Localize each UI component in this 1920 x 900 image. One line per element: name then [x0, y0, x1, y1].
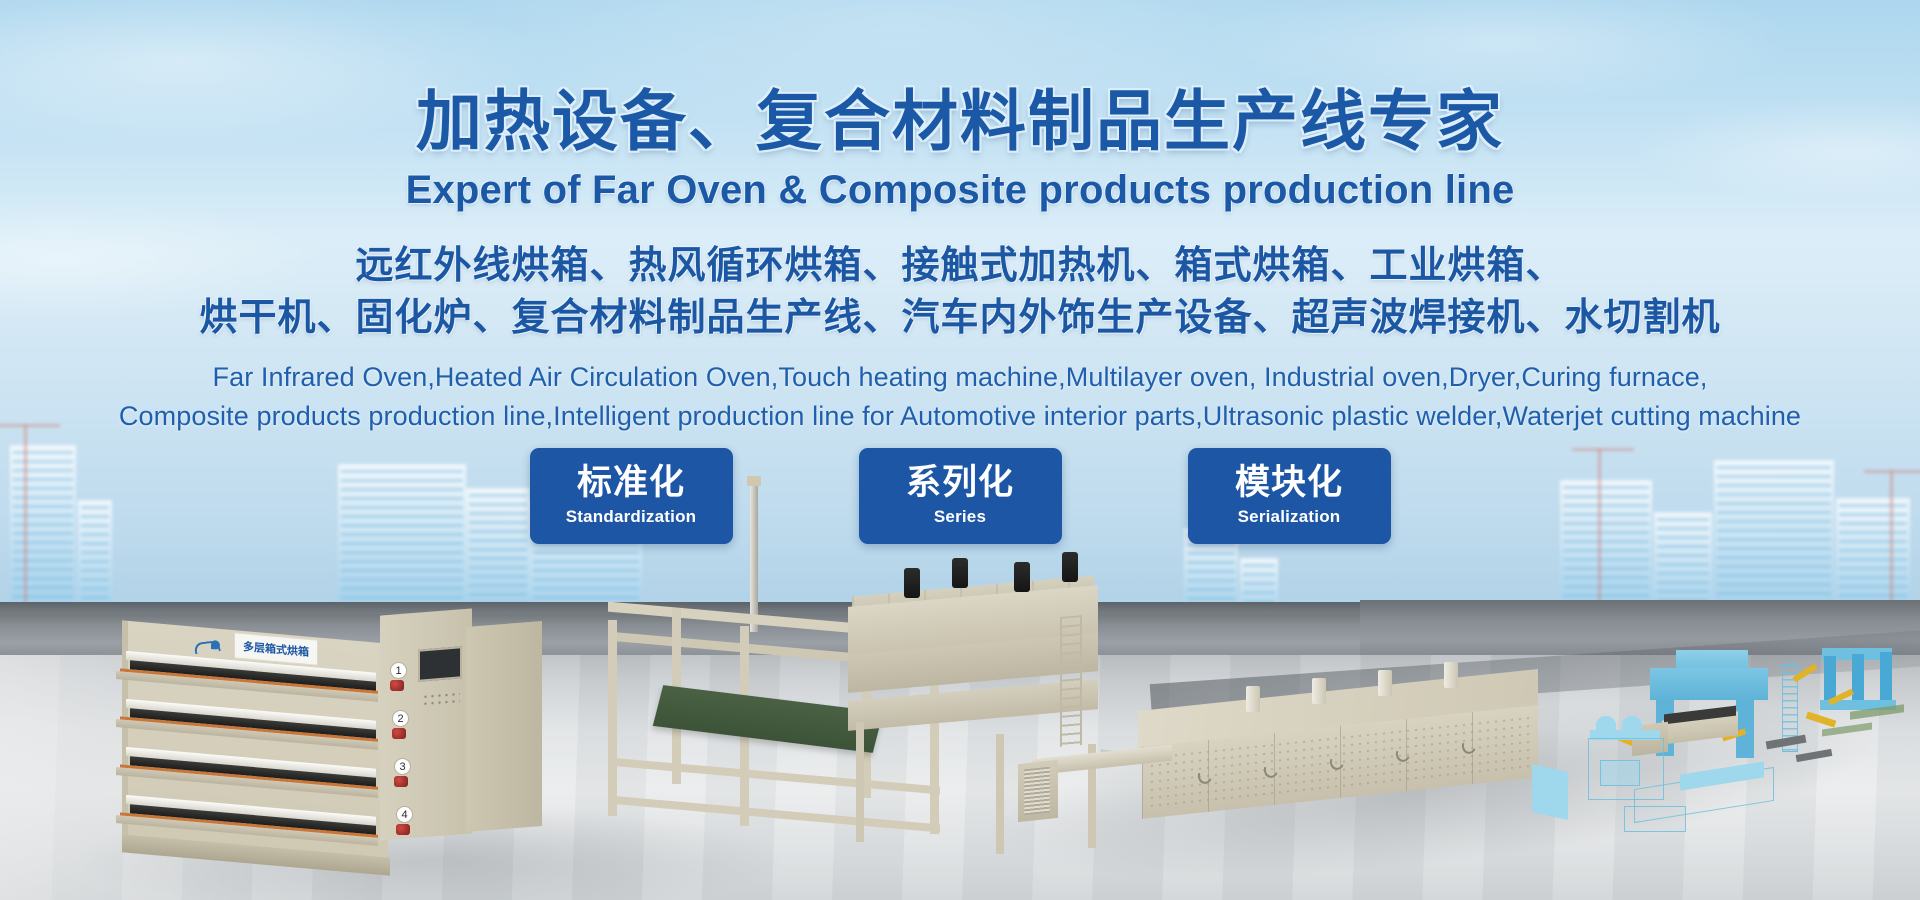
composite-press-machine [600, 572, 1160, 872]
badge-serialization-en: Serialization [1238, 507, 1341, 527]
hero-banner: 1 2 3 4 多层箱式烘箱 [0, 0, 1920, 900]
blue-press-bolster [1650, 668, 1768, 700]
feature-badge-group: 标准化 Standardization 系列化 Series 模块化 Seria… [0, 448, 1920, 544]
gantry-post-mid [1852, 654, 1864, 704]
linear-actuator-2 [1796, 749, 1833, 762]
oven-brand-logo [194, 639, 228, 660]
automated-production-line [1530, 620, 1920, 900]
press-cylinder-3 [1014, 562, 1030, 592]
badge-serialization[interactable]: 模块化 Serialization [1188, 448, 1391, 544]
press-cylinder-4 [1062, 552, 1078, 582]
badge-standardization[interactable]: 标准化 Standardization [530, 448, 733, 544]
product-list-chinese-line-2: 烘干机、固化炉、复合材料制品生产线、汽车内外饰生产设备、超声波焊接机、水切割机 [0, 291, 1920, 343]
badge-serialization-cn: 模块化 [1235, 465, 1343, 502]
product-list-english-line-2: Composite products production line,Intel… [0, 397, 1920, 436]
product-list-chinese-line-1: 远红外线烘箱、热风循环烘箱、接触式加热机、箱式烘箱、工业烘箱、 [0, 239, 1920, 291]
oven-knob-4[interactable] [396, 824, 410, 835]
press-post-left-front [608, 620, 617, 816]
press-cylinder-1 [904, 568, 920, 598]
parked-blue-panel [1532, 764, 1568, 820]
gantry-post-right [1880, 652, 1892, 702]
oven-layer-indicator-1: 1 [390, 662, 407, 679]
tunnel-oven-end-grille [1024, 767, 1050, 816]
badge-series[interactable]: 系列化 Series [859, 448, 1062, 544]
oven-layer-indicator-3: 3 [394, 758, 411, 775]
banner-text-block: 加热设备、复合材料制品生产线专家 Expert of Far Oven & Co… [0, 0, 1920, 436]
multilayer-box-oven: 1 2 3 4 多层箱式烘箱 [122, 618, 532, 883]
oven-knob-2[interactable] [392, 728, 406, 739]
outfeed-guard-rail [1624, 806, 1686, 832]
press-frame-rail-foot [608, 795, 940, 832]
oven-layer-indicator-4: 4 [396, 806, 413, 823]
oven-vent-grille [422, 691, 460, 710]
badge-series-en: Series [934, 507, 986, 527]
headline-chinese: 加热设备、复合材料制品生产线专家 [0, 68, 1920, 164]
headline-english: Expert of Far Oven & Composite products … [0, 168, 1920, 213]
press-access-ladder [1060, 615, 1082, 747]
tunnel-oven [1128, 690, 1558, 850]
press-leg-mid [996, 734, 1004, 854]
dosing-control-box [1600, 760, 1640, 786]
dosing-hopper-2 [1622, 716, 1642, 734]
dosing-hopper-1 [1596, 716, 1616, 734]
oven-layer-indicator-2: 2 [392, 710, 409, 727]
tunnel-oven-exhaust-stack-3 [1378, 670, 1392, 696]
robot-arm-1 [1806, 712, 1837, 728]
badge-series-cn: 系列化 [906, 465, 1014, 502]
tunnel-oven-exhaust-stack-1 [1246, 686, 1260, 712]
company-logo-icon [194, 639, 224, 656]
oven-knob-1[interactable] [390, 680, 404, 691]
badge-standardization-cn: 标准化 [577, 465, 685, 502]
press-cylinder-2 [952, 558, 968, 588]
tunnel-oven-exhaust-stack-2 [1312, 678, 1326, 704]
oven-display-screen [418, 646, 462, 681]
oven-knob-3[interactable] [394, 776, 408, 787]
product-list-english-line-1: Far Infrared Oven,Heated Air Circulation… [0, 358, 1920, 397]
press-frame-rail-bottom [608, 757, 940, 794]
oven-rear-cabinet [466, 621, 542, 832]
tunnel-oven-exhaust-stack-4 [1444, 662, 1458, 688]
press-leg-left [856, 722, 864, 842]
badge-standardization-en: Standardization [566, 507, 697, 527]
